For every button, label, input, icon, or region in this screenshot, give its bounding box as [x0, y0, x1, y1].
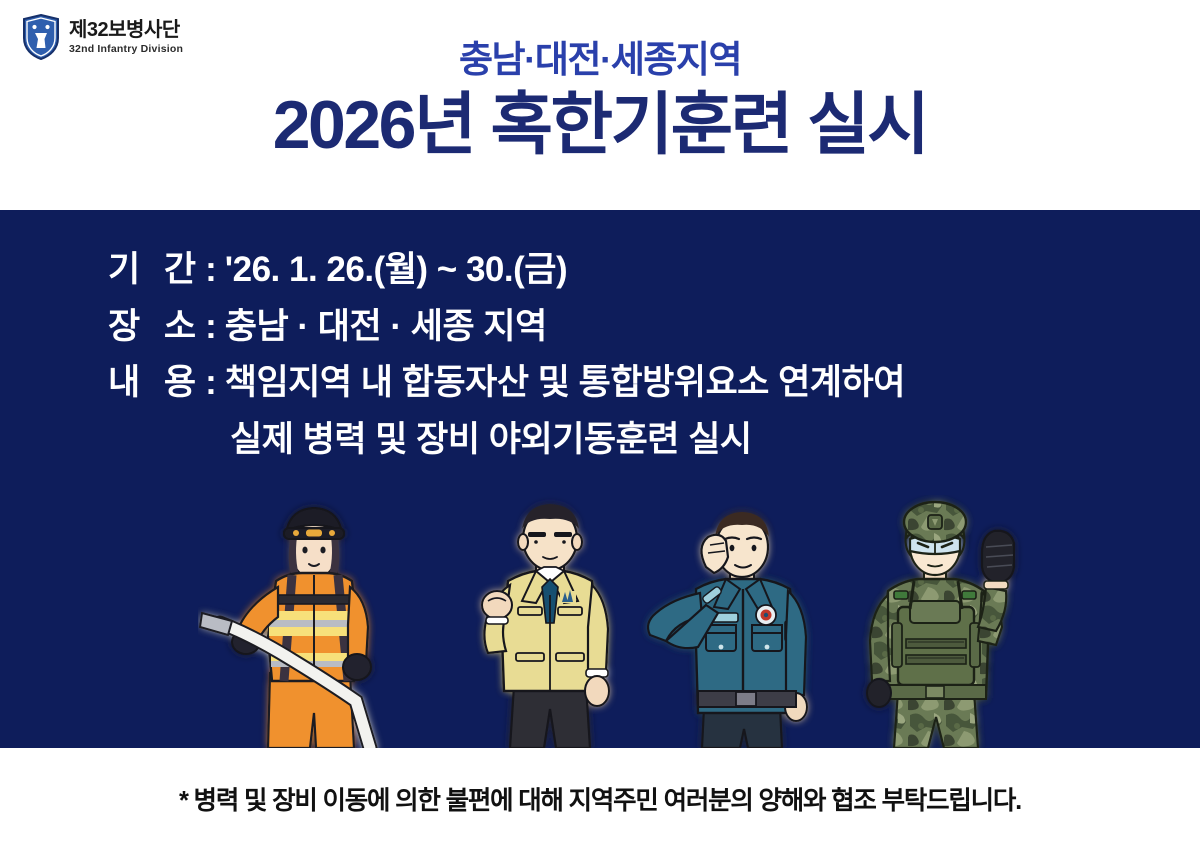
poster-footer: * 병력 및 장비 이동에 의한 불편에 대해 지역주민 여러분의 양해와 협조… — [0, 748, 1200, 848]
detail-label-period: 기 간 — [108, 242, 203, 299]
firefighter-figure — [198, 495, 438, 748]
police-illustration — [622, 495, 836, 748]
detail-value-content-continued: 실제 병력 및 장비 야외기동훈련 실시 — [230, 412, 752, 469]
police-chest-badge — [756, 605, 776, 625]
soldier-illustration — [836, 495, 1032, 748]
detail-value-location: 충남 · 대전 · 세종 지역 — [225, 299, 547, 356]
detail-colon-content: : — [205, 355, 217, 412]
soldier-left-glove — [867, 679, 891, 707]
detail-row-location: 장 소 : 충남 · 대전 · 세종 지역 — [108, 299, 1118, 356]
detail-colon-location: : — [205, 299, 217, 356]
footer-note-text: * 병력 및 장비 이동에 의한 불편에 대해 지역주민 여러분의 양해와 협조… — [179, 780, 1021, 817]
police-officer-figure — [622, 495, 836, 748]
division-name-korean: 제32보병사단 — [69, 20, 183, 40]
detail-row-content: 내 용 : 책임지역 내 합동자산 및 통합방위요소 연계하여 — [108, 355, 1118, 412]
soldier-figure — [836, 495, 1032, 748]
poster-header: 제32보병사단 32nd Infantry Division 충남·대전·세종지… — [0, 0, 1200, 210]
soldier-raised-fist — [982, 531, 1014, 583]
detail-row-period: 기 간 : '26. 1. 26.(월) ~ 30.(금) — [108, 242, 1118, 299]
detail-value-period: '26. 1. 26.(월) ~ 30.(금) — [225, 242, 567, 299]
detail-value-content: 책임지역 내 합동자산 및 통합방위요소 연계하여 — [225, 355, 905, 412]
title-block: 충남·대전·세종지역 2026년 혹한기훈련 실시 — [0, 40, 1200, 163]
official-illustration — [452, 495, 648, 748]
detail-colon-period: : — [205, 242, 217, 299]
training-announcement-poster: 제32보병사단 32nd Infantry Division 충남·대전·세종지… — [0, 0, 1200, 848]
government-official-figure — [452, 495, 648, 748]
official-chest-emblem — [560, 590, 576, 603]
detail-row-content-continued: 실제 병력 및 장비 야외기동훈련 실시 — [108, 412, 1118, 469]
detail-label-location: 장 소 — [108, 299, 203, 356]
responder-figures-group — [0, 495, 1200, 748]
poster-subtitle: 충남·대전·세종지역 — [0, 40, 1200, 81]
firefighter-illustration — [198, 495, 438, 748]
poster-headline: 2026년 혹한기훈련 실시 — [0, 87, 1200, 163]
main-navy-panel: 기 간 : '26. 1. 26.(월) ~ 30.(금) 장 소 : 충남 ·… — [0, 210, 1200, 748]
detail-label-content: 내 용 — [108, 355, 203, 412]
training-details-list: 기 간 : '26. 1. 26.(월) ~ 30.(금) 장 소 : 충남 ·… — [108, 242, 1118, 469]
